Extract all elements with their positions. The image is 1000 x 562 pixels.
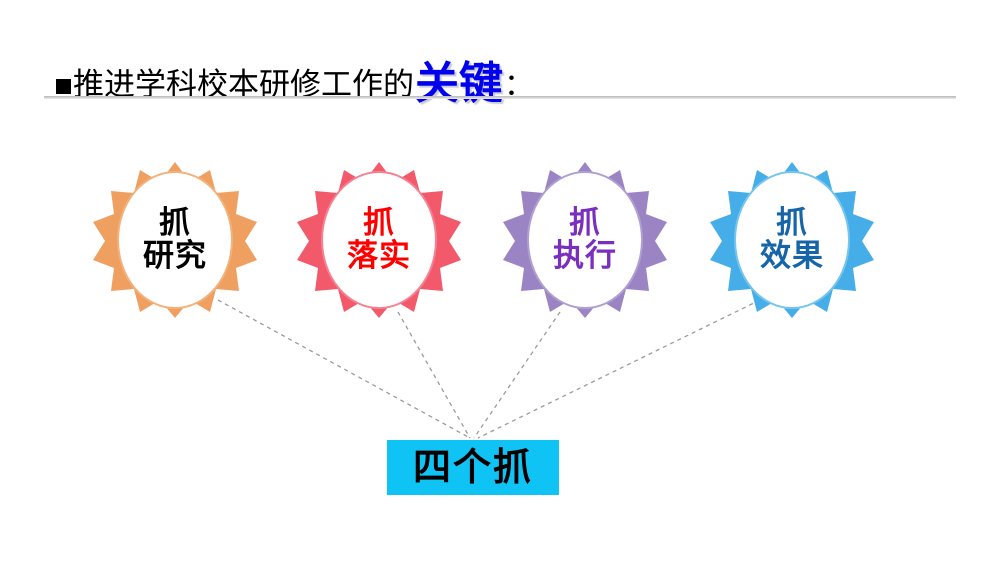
- badge-zhua-luoshi[interactable]: 抓 落实: [294, 160, 464, 318]
- result-box[interactable]: 四个抓: [387, 440, 559, 495]
- inner-disc: [528, 172, 642, 308]
- slide-canvas: 推进学科校本研修工作的 关键 ： 抓 研究 抓 落实: [0, 0, 1000, 562]
- starburst-shape-icon: [90, 160, 260, 318]
- inner-disc: [735, 172, 849, 308]
- badge-zhua-xiaoguo[interactable]: 抓 效果: [707, 160, 877, 318]
- starburst-shape-icon: [294, 160, 464, 318]
- bullet-square-icon: [56, 79, 71, 94]
- starburst-shape-icon: [707, 160, 877, 318]
- badge-zhua-yanjiu[interactable]: 抓 研究: [90, 160, 260, 318]
- inner-disc: [118, 172, 232, 308]
- result-label: 四个抓: [413, 449, 533, 487]
- title-divider: [44, 96, 956, 99]
- inner-disc: [322, 172, 436, 308]
- badge-zhua-zhixing[interactable]: 抓 执行: [500, 160, 670, 318]
- title-accent-text: 关键: [415, 47, 503, 111]
- starburst-shape-icon: [500, 160, 670, 318]
